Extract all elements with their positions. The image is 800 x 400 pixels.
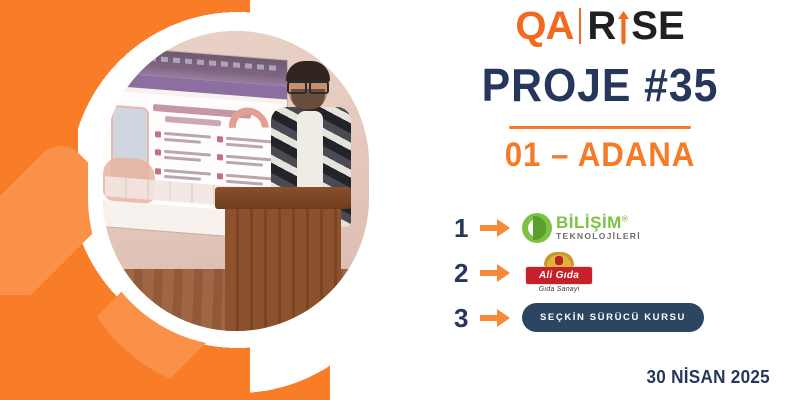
page-title: PROJE #35 [414,62,786,108]
seckin-pill-label: SEÇKİN SÜRÜCÜ KURSU [522,303,704,332]
logo-rise-text: R SE [587,6,684,46]
logo-divider [579,8,581,44]
logo-rise-suffix: SE [631,6,684,46]
list-item: 1 BİLİŞİM® TEKNOLOJİLERİ [454,205,774,250]
hd-name-text: BİLİŞİM [556,213,622,232]
hd-tagline: TEKNOLOJİLERİ [556,232,641,241]
sponsor-list: 1 BİLİŞİM® TEKNOLOJİLERİ 2 [454,205,774,340]
hd-monogram-icon [522,213,552,243]
logo-qa-text: QA [515,6,573,46]
ali-name: Ali Gıda [525,266,593,285]
photo-slide-subtitle-line [165,116,221,126]
photo-bullet [155,148,211,163]
sponsor-number: 1 [454,215,480,241]
left-decorative-panel [0,0,400,400]
registered-icon: ® [622,215,628,224]
sponsor-number: 2 [454,260,480,286]
sponsor-logo-hd-bilisim: BİLİŞİM® TEKNOLOJİLERİ [522,213,774,243]
right-content-panel: QA R SE PROJE #35 01 – ADANA 1 [400,0,800,400]
photo-presenter-glasses [287,79,329,90]
presenter-photo [103,31,369,331]
location-subtitle: 01 – ADANA [416,138,784,172]
poster-canvas: QA R SE PROJE #35 01 – ADANA 1 [0,0,800,400]
hd-wordmark: BİLİŞİM® TEKNOLOJİLERİ [556,214,641,241]
qarise-logo: QA R SE [400,6,800,46]
right-arrow-icon [480,219,522,237]
up-arrow-icon [616,9,631,43]
photo-bullet [155,130,211,145]
sponsor-number: 3 [454,305,480,331]
list-item: 2 Ali Gıda Gıda Sanayi [454,250,774,295]
ali-gida-mark: Ali Gıda Gıda Sanayi [522,252,596,294]
event-date: 30 NİSAN 2025 [647,367,770,388]
ali-tagline: Gıda Sanayi [539,286,580,293]
sponsor-logo-ali-gida: Ali Gıda Gıda Sanayi [522,252,774,294]
photo-podium [221,187,345,331]
title-divider-rule [509,126,691,129]
photo-podium-top [215,187,351,209]
list-item: 3 SEÇKİN SÜRÜCÜ KURSU [454,295,774,340]
logo-rise-prefix: R [587,6,616,46]
right-arrow-icon [480,264,522,282]
right-arrow-icon [480,309,522,327]
hd-name: BİLİŞİM® [556,214,641,231]
photo-podium-body [225,207,341,331]
ali-crest-icon [544,252,574,267]
sponsor-logo-seckin: SEÇKİN SÜRÜCÜ KURSU [522,303,774,332]
